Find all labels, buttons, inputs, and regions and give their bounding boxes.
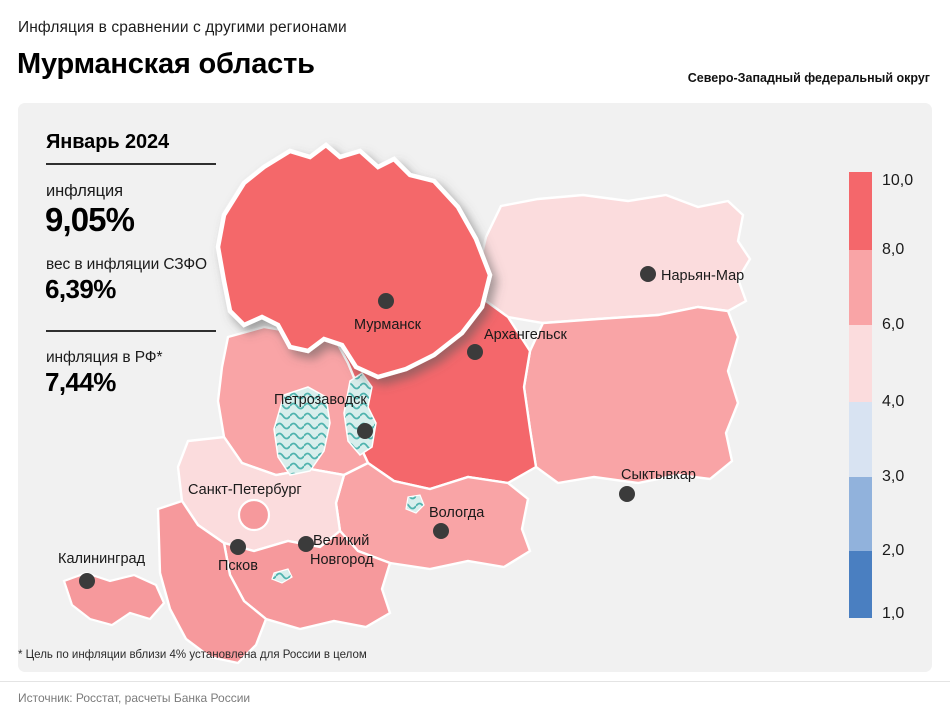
city-label-murmansk: Мурманск — [354, 317, 422, 333]
footnote: * Цель по инфляции вблизи 4% установлена… — [18, 649, 367, 661]
legend-band-2-3 — [849, 477, 872, 551]
legend-colorbar — [849, 172, 872, 618]
infographic-root: Инфляция в сравнении с другими регионами… — [0, 0, 950, 713]
region-saint-petersburg[interactable] — [239, 500, 269, 530]
city-label-kaliningrad: Калининград — [58, 551, 146, 567]
region-kaliningrad[interactable] — [64, 573, 164, 625]
map-legend: 10,0 8,0 6,0 4,0 3,0 2,0 1,0 — [849, 172, 941, 622]
city-label-veliky-novgorod-line2: Новгород — [310, 552, 374, 568]
choropleth-map[interactable]: Мурманск Нарьян-Мар Архангельск Петрозав… — [38, 111, 848, 671]
legend-tick-6: 6,0 — [882, 316, 904, 334]
legend-tick-4: 4,0 — [882, 393, 904, 411]
source-note: Источник: Росстат, расчеты Банка России — [18, 691, 250, 705]
city-label-naryan-mar: Нарьян-Мар — [661, 268, 744, 284]
legend-tick-10: 10,0 — [882, 172, 913, 190]
lake-onega — [344, 373, 376, 455]
city-label-pskov: Псков — [218, 558, 258, 574]
city-label-veliky-novgorod-line1: Великий — [313, 533, 369, 549]
legend-band-1-2 — [849, 551, 872, 618]
legend-tick-1: 1,0 — [882, 605, 904, 623]
legend-band-3-4 — [849, 402, 872, 477]
legend-band-6-8 — [849, 250, 872, 325]
city-dot-syktyvkar[interactable] — [619, 486, 635, 502]
city-dot-vologda[interactable] — [433, 523, 449, 539]
legend-band-8-10 — [849, 172, 872, 250]
city-label-arkhangelsk: Архангельск — [484, 327, 568, 343]
region-nenets-ao[interactable] — [478, 195, 750, 323]
legend-tick-3: 3,0 — [882, 468, 904, 486]
header-kicker: Инфляция в сравнении с другими регионами — [18, 19, 347, 37]
page-title: Мурманская область — [17, 48, 315, 81]
legend-tick-8: 8,0 — [882, 241, 904, 259]
city-dot-arkhangelsk[interactable] — [467, 344, 483, 360]
city-dot-murmansk[interactable] — [378, 293, 394, 309]
city-dot-naryan-mar[interactable] — [640, 266, 656, 282]
federal-district-label: Северо-Западный федеральный округ — [688, 71, 930, 85]
map-svg[interactable]: Мурманск Нарьян-Мар Архангельск Петрозав… — [38, 111, 848, 671]
legend-tick-2: 2,0 — [882, 542, 904, 560]
city-dot-veliky-novgorod[interactable] — [298, 536, 314, 552]
city-dot-petrozavodsk[interactable] — [357, 423, 373, 439]
city-label-syktyvkar: Сыктывкар — [621, 467, 696, 483]
city-dot-kaliningrad[interactable] — [79, 573, 95, 589]
source-divider — [0, 681, 950, 682]
city-label-saint-petersburg: Санкт-Петербург — [188, 482, 302, 498]
legend-band-4-6 — [849, 325, 872, 402]
city-label-vologda: Вологда — [429, 505, 485, 521]
city-label-petrozavodsk: Петрозаводск — [274, 392, 367, 408]
city-dot-pskov[interactable] — [230, 539, 246, 555]
main-panel: Январь 2024 инфляция 9,05% вес в инфляци… — [18, 103, 932, 672]
